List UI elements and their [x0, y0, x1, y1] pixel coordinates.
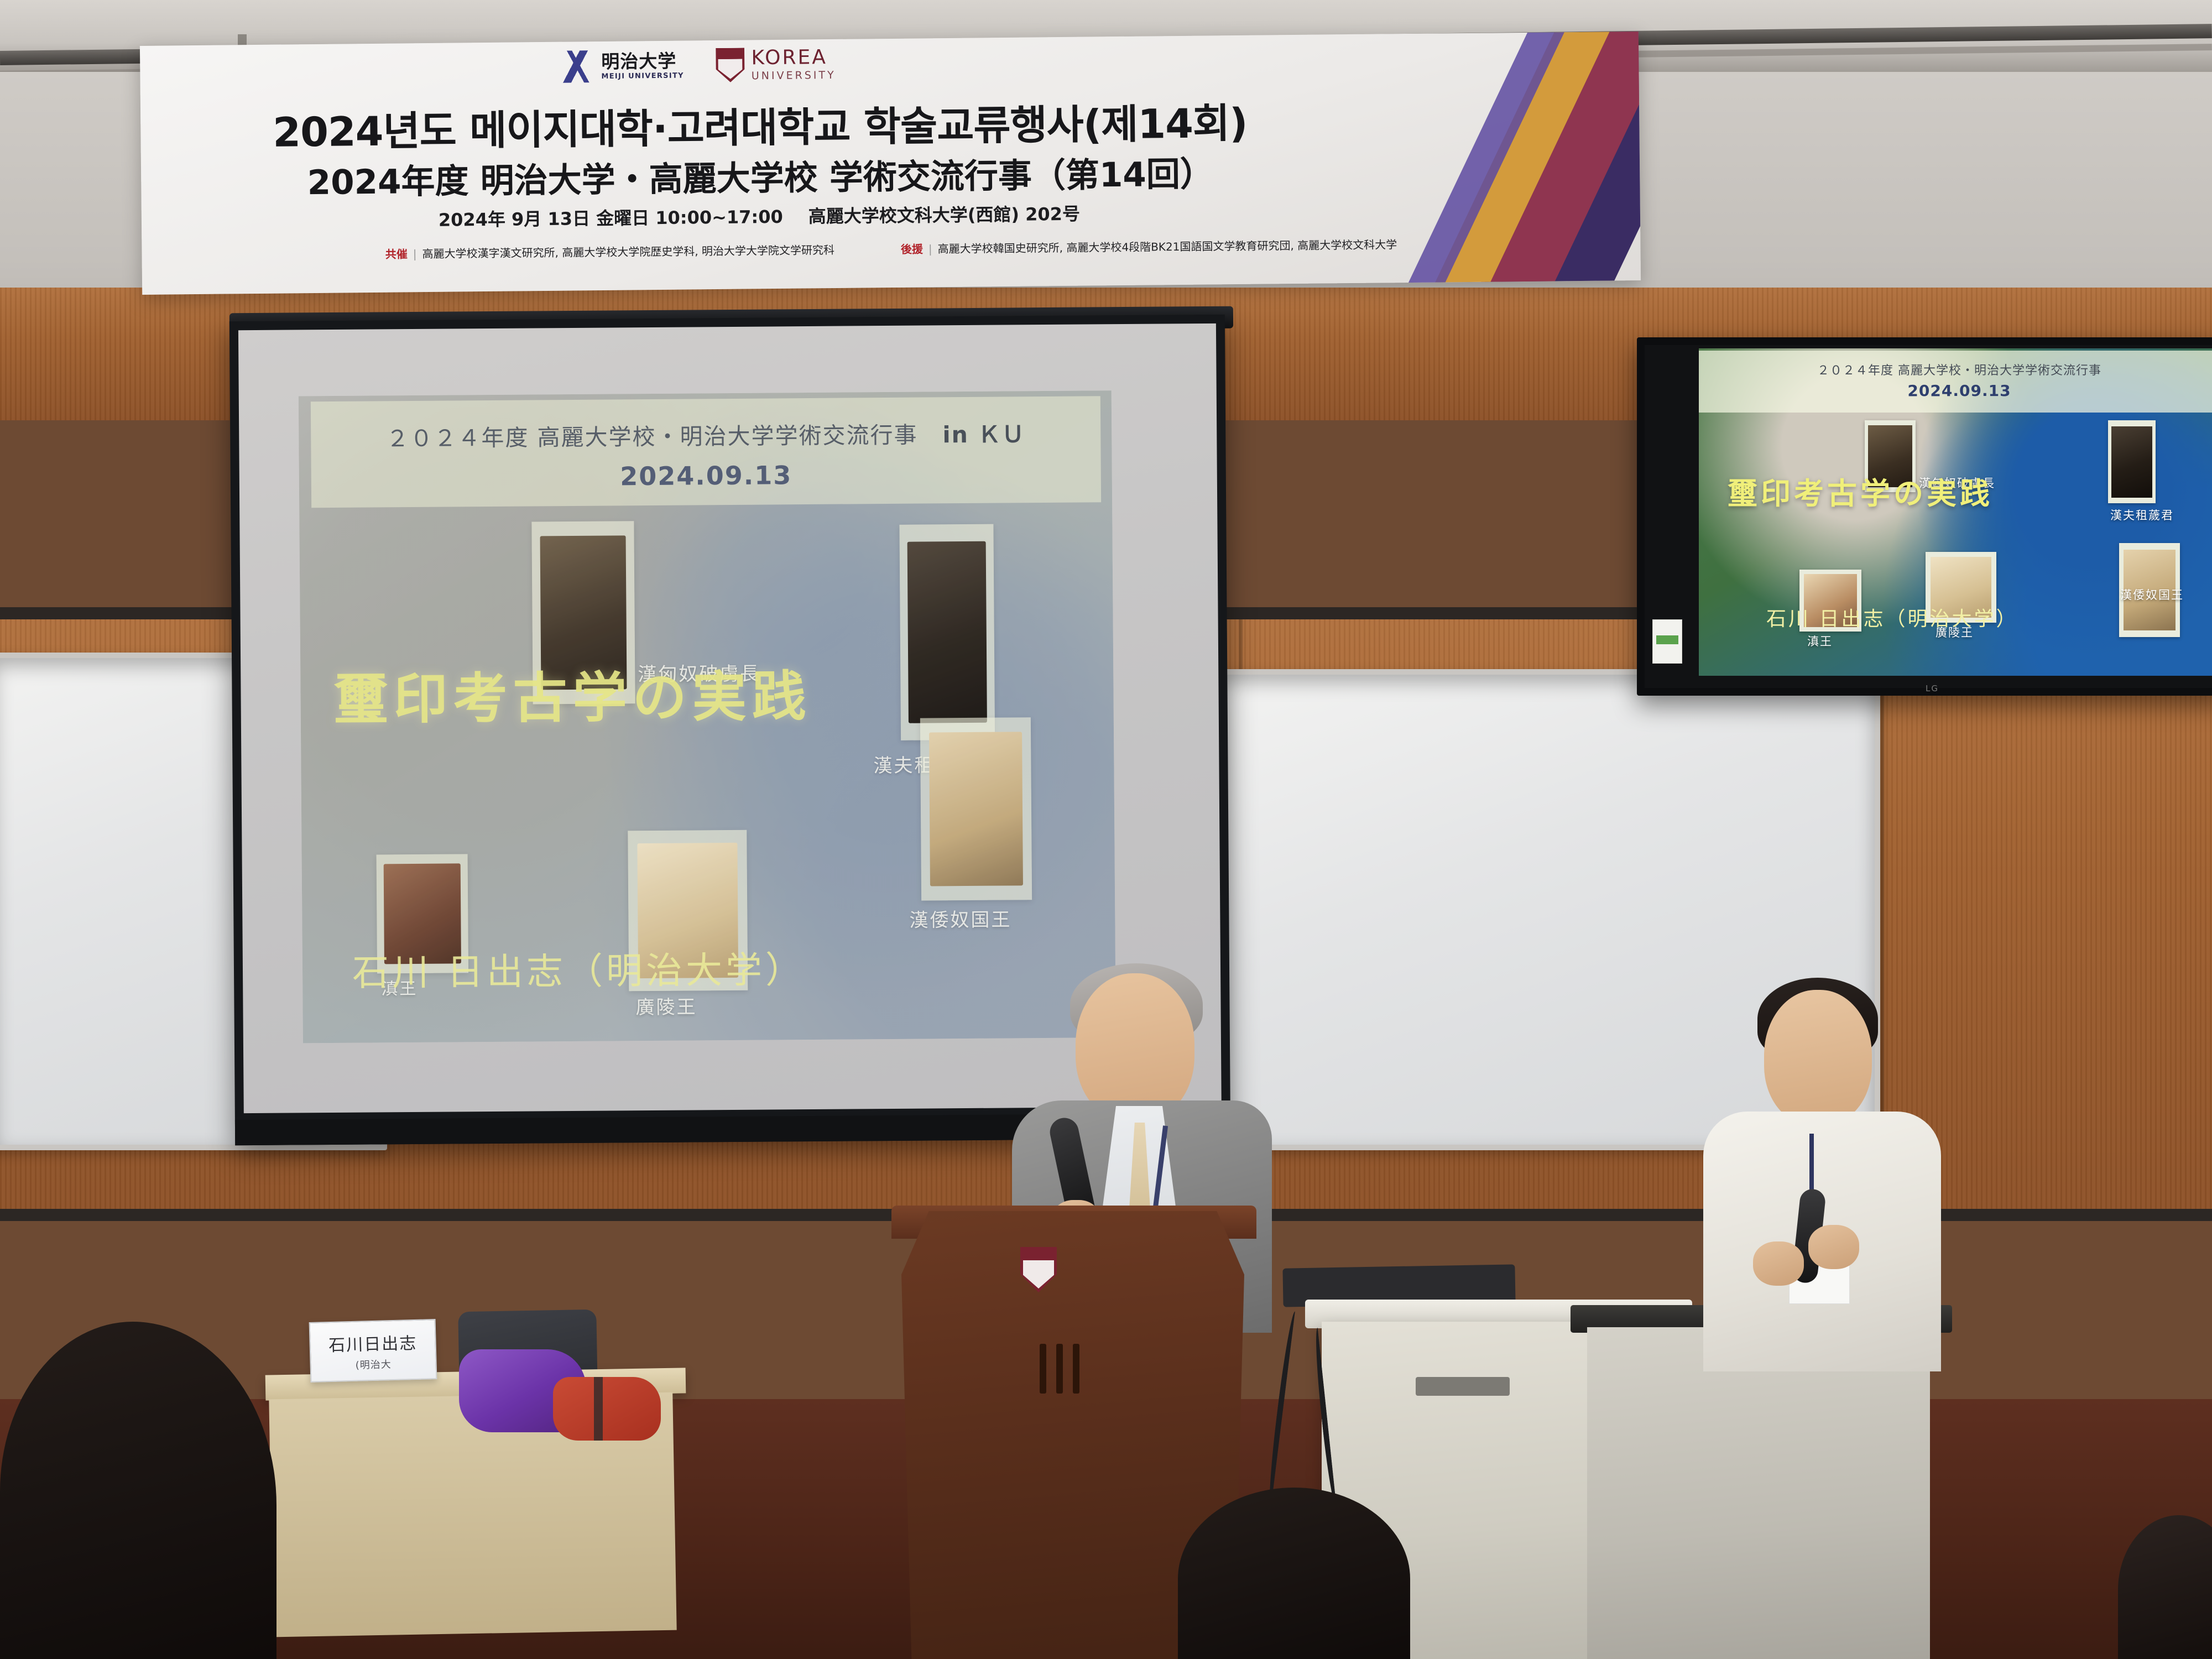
slide-date: 2024.09.13	[311, 458, 1101, 493]
cohost-text: 高麗大学校漢字漢文研究所, 高麗大学校大学院歴史学科, 明治大学大学院文学研究科	[422, 243, 834, 260]
seal-photo-2	[899, 524, 995, 740]
monitor-header-bar: ２０２４年度 高麗大学校・明治大学学術交流行事 2024.09.13	[1699, 351, 2212, 413]
monitor-label-2: 漢夫租薉君	[2110, 507, 2174, 523]
korea-logo-line2: UNIVERSITY	[752, 70, 836, 81]
support-tag: 後援	[901, 242, 923, 255]
side-monitor: ２０２４年度 高麗大学校・明治大学学術交流行事 2024.09.13 漢匈奴破虜…	[1637, 337, 2212, 696]
korea-university-logo: KOREA UNIVERSITY	[716, 47, 836, 82]
speaker-head	[1076, 973, 1194, 1121]
korea-logo-line1: KOREA	[751, 48, 836, 68]
nameplate-affiliation: (明治大	[355, 1357, 392, 1372]
speaker-nameplate: 石川日出志 (明治大	[309, 1319, 437, 1383]
monitor-label-5: 漢倭奴国王	[2120, 586, 2184, 603]
meiji-logo-jp: 明治大学	[601, 52, 684, 71]
interpreter-hand-right	[1808, 1225, 1859, 1269]
banner-logos: 明治大学 MEIJI UNIVERSITY KOREA UNIVERSITY	[560, 47, 836, 84]
energy-label-sticker	[1652, 619, 1682, 664]
interpreter-hand-left	[1753, 1241, 1804, 1286]
audience-head-foreground-left	[0, 1322, 276, 1659]
interpreter-head	[1764, 990, 1872, 1125]
monitor-brand-logo: LG	[1926, 684, 1939, 693]
slide-title: 璽印考古学の実践	[333, 652, 887, 734]
banner-datetime: 2024年 9月 13日 金曜日 10:00~17:00	[439, 206, 783, 231]
banner-venue: 高麗大学校文科大学(西館) 202号	[808, 204, 1081, 227]
lecture-hall-photo: 明治大学 MEIJI UNIVERSITY KOREA UNIVERSITY 2…	[0, 0, 2212, 1659]
cohost-tag: 共催	[385, 247, 408, 260]
korea-shield-icon	[716, 48, 745, 82]
monitor-date: 2024.09.13	[1699, 382, 2212, 400]
monitor-header-text: ２０２４年度 高麗大学校・明治大学学術交流行事	[1699, 361, 2212, 378]
banner-support: 後援|高麗大学校韓国史研究所, 高麗大学校4段階BK21国語国文学教育研究団, …	[901, 236, 1397, 257]
nameplate-name: 石川日出志	[328, 1329, 418, 1355]
slide-header-text: ２０２４年度 高麗大学校・明治大学学術交流行事 in ＫＵ	[311, 415, 1100, 453]
event-banner: 明治大学 MEIJI UNIVERSITY KOREA UNIVERSITY 2…	[140, 32, 1641, 295]
audience-head-foreground-center	[1178, 1488, 1410, 1659]
monitor-screen: ２０２４年度 高麗大学校・明治大学学術交流行事 2024.09.13 漢匈奴破虜…	[1699, 348, 2212, 676]
lectern-console	[1587, 1327, 1930, 1659]
seal-photo-5	[920, 717, 1032, 900]
seal-label-5: 漢倭奴国王	[909, 904, 1011, 932]
meiji-v-icon	[560, 50, 595, 83]
projected-slide: ２０２４年度 高麗大学校・明治大学学術交流行事 in ＫＵ 2024.09.13…	[299, 390, 1116, 1043]
red-pouch	[553, 1377, 661, 1441]
support-text: 高麗大学校韓国史研究所, 高麗大学校4段階BK21国語国文学教育研究団, 高麗大…	[938, 238, 1397, 255]
slide-header-bar: ２０２４年度 高麗大学校・明治大学学術交流行事 in ＫＵ 2024.09.13	[311, 396, 1101, 508]
monitor-author: 石川 日出志（明治大学）	[1766, 603, 2018, 632]
podium-vents	[1040, 1344, 1112, 1394]
banner-cohost: 共催|高麗大学校漢字漢文研究所, 高麗大学校大学院歴史学科, 明治大学大学院文学…	[385, 241, 834, 262]
monitor-label-3: 滇王	[1807, 633, 1833, 649]
seal-label-4: 廣陵王	[635, 992, 697, 1019]
slide-author: 石川 日出志（明治大学）	[352, 940, 806, 997]
monitor-title: 璽印考古学の実践	[1728, 469, 1993, 513]
monitor-seal-2	[2108, 420, 2156, 503]
meiji-university-logo: 明治大学 MEIJI UNIVERSITY	[560, 50, 684, 83]
meiji-logo-en: MEIJI UNIVERSITY	[601, 72, 684, 80]
